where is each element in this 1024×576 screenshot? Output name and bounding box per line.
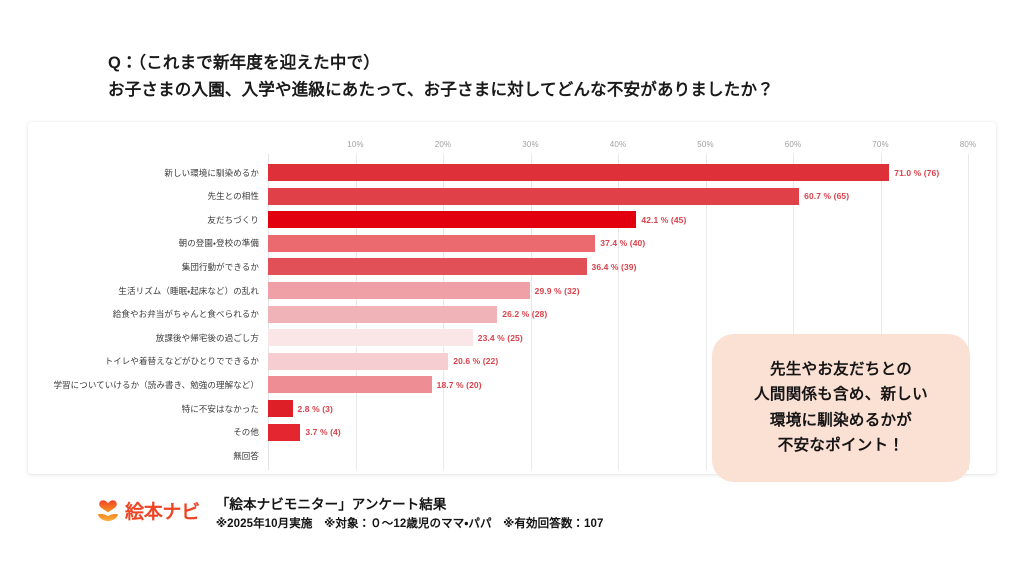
chart-row: 新しい環境に馴染めるか71.0 % (76) [268, 162, 968, 183]
category-label: 放課後や帰宅後の過ごし方 [156, 332, 259, 344]
x-axis-tick-label: 10% [347, 140, 364, 149]
callout-line-2: 人間関係も含め、新しい [754, 383, 928, 407]
chart-bar[interactable] [268, 400, 293, 417]
bar-value-label: 26.2 % (28) [502, 309, 547, 319]
category-label: トイレや着替えなどがひとりでできるか [105, 355, 259, 367]
heart-book-logo-icon [95, 498, 121, 524]
category-label: 特に不安はなかった [182, 403, 259, 415]
chart-bar[interactable] [268, 188, 799, 205]
category-label: 学習についていけるか（読み書き、勉強の理解など） [53, 379, 259, 391]
category-label: 給食やお弁当がちゃんと食べられるか [113, 308, 259, 320]
chart-bar[interactable] [268, 258, 587, 275]
chart-bar[interactable] [268, 282, 530, 299]
chart-bar[interactable] [268, 329, 473, 346]
x-axis-tick-label: 30% [522, 140, 539, 149]
category-label: 集団行動ができるか [182, 261, 259, 273]
category-label: 朝の登園・登校の準備 [179, 237, 259, 249]
bar-value-label: 29.9 % (32) [535, 286, 580, 296]
category-label: 先生との相性 [207, 190, 259, 202]
chart-bar[interactable] [268, 164, 889, 181]
footer: 絵本ナビ 「絵本ナビモニター」アンケート結果 ※2025年10月実施 ※対象：０… [95, 494, 604, 534]
chart-row: 生活リズム（睡眠・起床など）の乱れ29.9 % (32) [268, 280, 968, 301]
x-axis-tick-label: 40% [610, 140, 627, 149]
category-label: その他 [233, 426, 259, 438]
question-heading: Q：（これまで新年度を迎えた中で） お子さまの入園、入学や進級にあたって、お子さ… [108, 50, 968, 104]
x-axis-tick-label: 20% [435, 140, 452, 149]
category-label: 無回答 [233, 450, 259, 462]
chart-bar[interactable] [268, 424, 300, 441]
bar-value-label: 18.7 % (20) [437, 380, 482, 390]
x-axis-tick-label: 70% [872, 140, 889, 149]
bar-value-label: 42.1 % (45) [641, 215, 686, 225]
insight-callout: 先生やお友だちとの 人間関係も含め、新しい 環境に馴染めるかが 不安なポイント！ [712, 334, 970, 482]
chart-row: 朝の登園・登校の準備37.4 % (40) [268, 233, 968, 254]
x-axis-tick-label: 50% [697, 140, 714, 149]
footer-text-block: 「絵本ナビモニター」アンケート結果 ※2025年10月実施 ※対象：０〜12歳児… [216, 494, 604, 534]
survey-note: ※2025年10月実施 ※対象：０〜12歳児のママ・パパ ※有効回答数：107 [216, 515, 604, 533]
x-axis-tick-label: 60% [785, 140, 802, 149]
chart-bar[interactable] [268, 211, 636, 228]
bar-value-label: 71.0 % (76) [894, 168, 939, 178]
category-label: 生活リズム（睡眠・起床など）の乱れ [118, 285, 259, 297]
callout-line-4: 不安なポイント！ [778, 434, 904, 458]
chart-row: 友だちづくり42.1 % (45) [268, 209, 968, 230]
chart-row: 給食やお弁当がちゃんと食べられるか26.2 % (28) [268, 304, 968, 325]
chart-bar[interactable] [268, 306, 497, 323]
chart-bar[interactable] [268, 376, 432, 393]
survey-title: 「絵本ナビモニター」アンケート結果 [216, 495, 604, 515]
chart-bar[interactable] [268, 235, 595, 252]
bar-value-label: 60.7 % (65) [804, 191, 849, 201]
category-label: 新しい環境に馴染めるか [164, 167, 259, 179]
question-line-2: お子さまの入園、入学や進級にあたって、お子さまに対してどんな不安がありましたか？ [108, 77, 968, 104]
question-line-1: Q：（これまで新年度を迎えた中で） [108, 50, 968, 77]
chart-row: 先生との相性60.7 % (65) [268, 186, 968, 207]
callout-line-3: 環境に馴染めるかが [770, 409, 912, 433]
x-axis-tick-label: 80% [960, 140, 977, 149]
bar-value-label: 36.4 % (39) [592, 262, 637, 272]
chart-bar[interactable] [268, 353, 448, 370]
logo-wordmark: 絵本ナビ [125, 497, 200, 524]
category-label: 友だちづくり [207, 214, 259, 226]
bar-value-label: 3.7 % (4) [305, 427, 340, 437]
ehonnavi-logo[interactable]: 絵本ナビ [95, 494, 200, 524]
bar-value-label: 37.4 % (40) [600, 238, 645, 248]
bar-value-label: 2.8 % (3) [298, 404, 333, 414]
callout-line-1: 先生やお友だちとの [770, 358, 912, 382]
bar-value-label: 20.6 % (22) [453, 356, 498, 366]
bar-value-label: 23.4 % (25) [478, 333, 523, 343]
chart-row: 集団行動ができるか36.4 % (39) [268, 256, 968, 277]
